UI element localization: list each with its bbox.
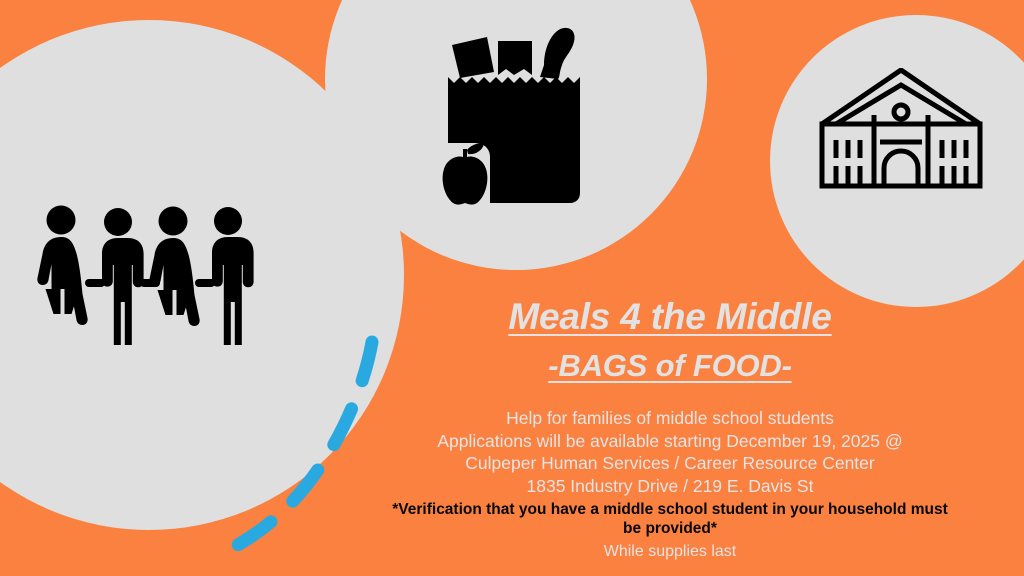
grocery-bag-with-apple-icon	[440, 25, 600, 215]
flyer-text-block: Meals 4 the Middle -BAGS of FOOD- Help f…	[380, 296, 960, 562]
detail-line-addresses: 1835 Industry Drive / 219 E. Davis St	[380, 475, 960, 498]
detail-line-locations: Culpeper Human Services / Career Resourc…	[380, 452, 960, 475]
page-title: Meals 4 the Middle	[380, 296, 960, 338]
details-paragraph: Help for families of middle school stude…	[380, 407, 960, 497]
detail-line-availability: Applications will be available starting …	[380, 430, 960, 453]
supplies-disclaimer: While supplies last	[380, 542, 960, 562]
verification-notice: *Verification that you have a middle sch…	[380, 500, 960, 538]
detail-line-help: Help for families of middle school stude…	[380, 407, 960, 430]
flyer-canvas: Meals 4 the Middle -BAGS of FOOD- Help f…	[0, 0, 1024, 576]
page-subtitle: -BAGS of FOOD-	[380, 346, 960, 386]
school-building-icon	[818, 68, 984, 190]
